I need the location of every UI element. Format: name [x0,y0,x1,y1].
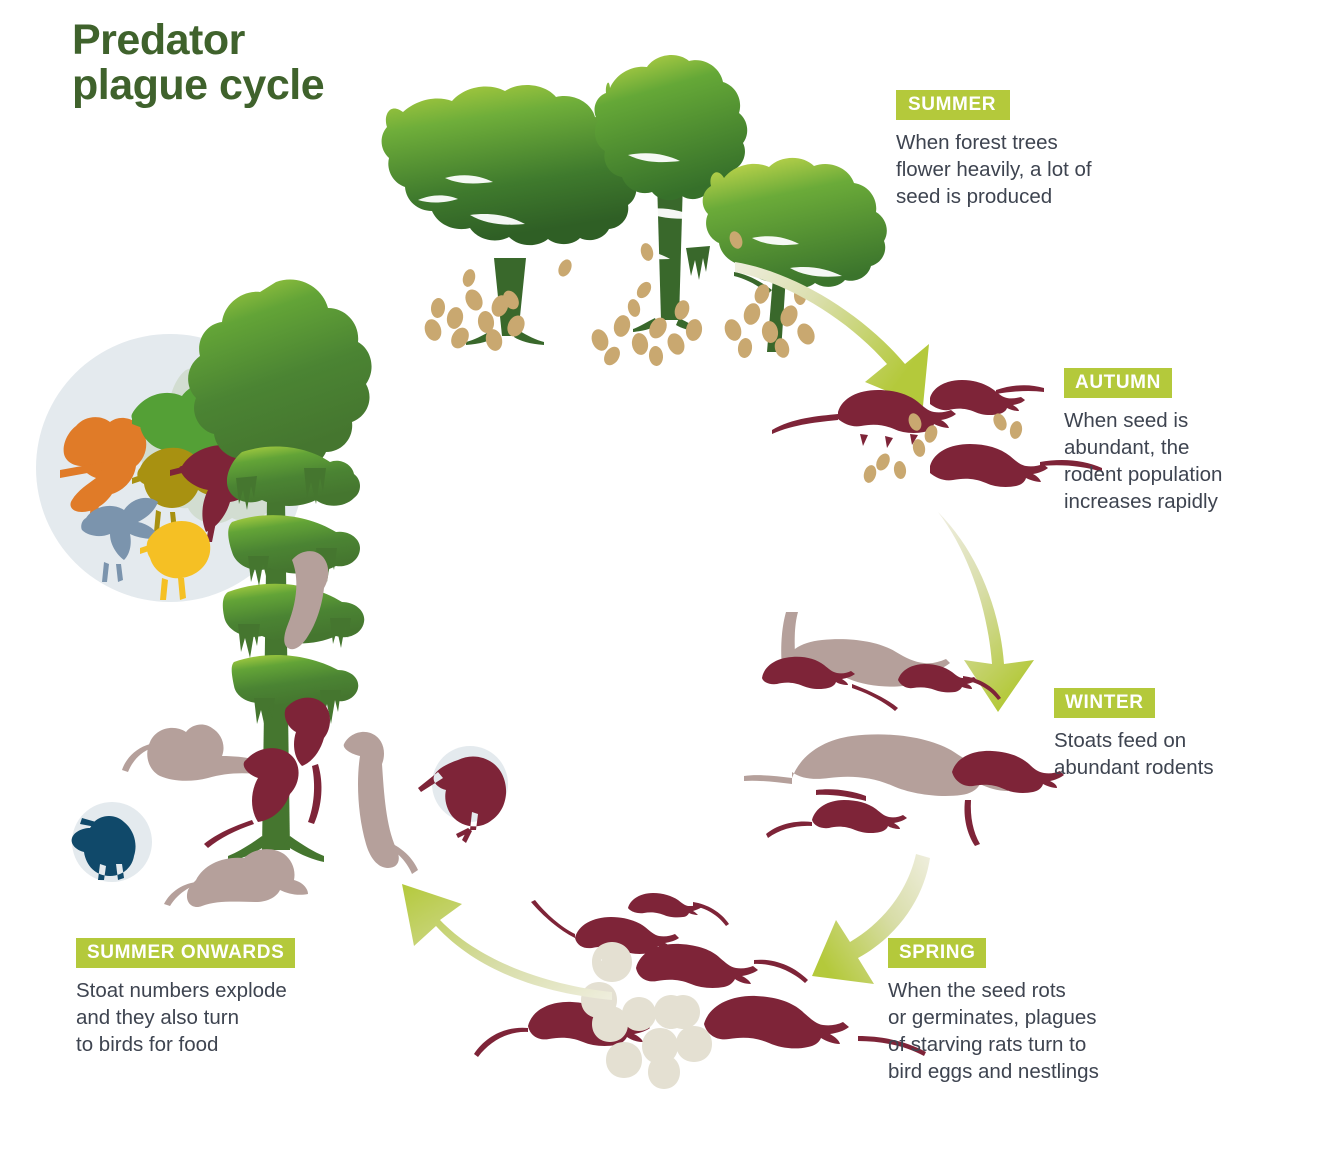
badge-winter: WINTER [1054,688,1155,718]
kiwi-bird-circle [418,746,508,843]
stoat [164,849,308,907]
caption-spring: SPRING When the seed rots or germinates,… [888,938,1188,1085]
seed-pile-center [589,298,704,368]
caption-autumn: AUTUMN When seed is abundant, the rodent… [1064,368,1340,515]
page-title: Predator plague cycle [72,18,324,107]
badge-summer-onwards: SUMMER ONWARDS [76,938,295,968]
caption-text-spring: When the seed rots or germinates, plague… [888,977,1188,1085]
caption-text-winter: Stoats feed on abundant rodents [1054,727,1334,781]
badge-autumn: AUTUMN [1064,368,1172,398]
badge-spring: SPRING [888,938,986,968]
whio-blue-duck-circle [72,802,152,882]
rat [636,944,808,988]
caption-summer: SUMMER When forest trees flower heavily,… [896,90,1196,210]
mouse [628,893,729,926]
rat [766,800,907,838]
spring-rats-and-eggs [474,893,926,1089]
caption-text-summer: When forest trees flower heavily, a lot … [896,129,1196,210]
caption-text-autumn: When seed is abundant, the rodent popula… [1064,407,1340,515]
caption-text-summer-onwards: Stoat numbers explode and they also turn… [76,977,396,1058]
stoat [344,732,418,874]
autumn-rodents [772,380,1102,487]
infographic-canvas: Predator plague cycle SUMMER When forest… [0,0,1340,1156]
rat [930,380,1044,415]
caption-summer-onwards: SUMMER ONWARDS Stoat numbers explode and… [76,938,396,1058]
caption-winter: WINTER Stoats feed on abundant rodents [1054,688,1334,781]
forest-trees-illustration [382,55,887,368]
winter-stoats-and-rodents [744,612,1064,846]
badge-summer: SUMMER [896,90,1010,120]
